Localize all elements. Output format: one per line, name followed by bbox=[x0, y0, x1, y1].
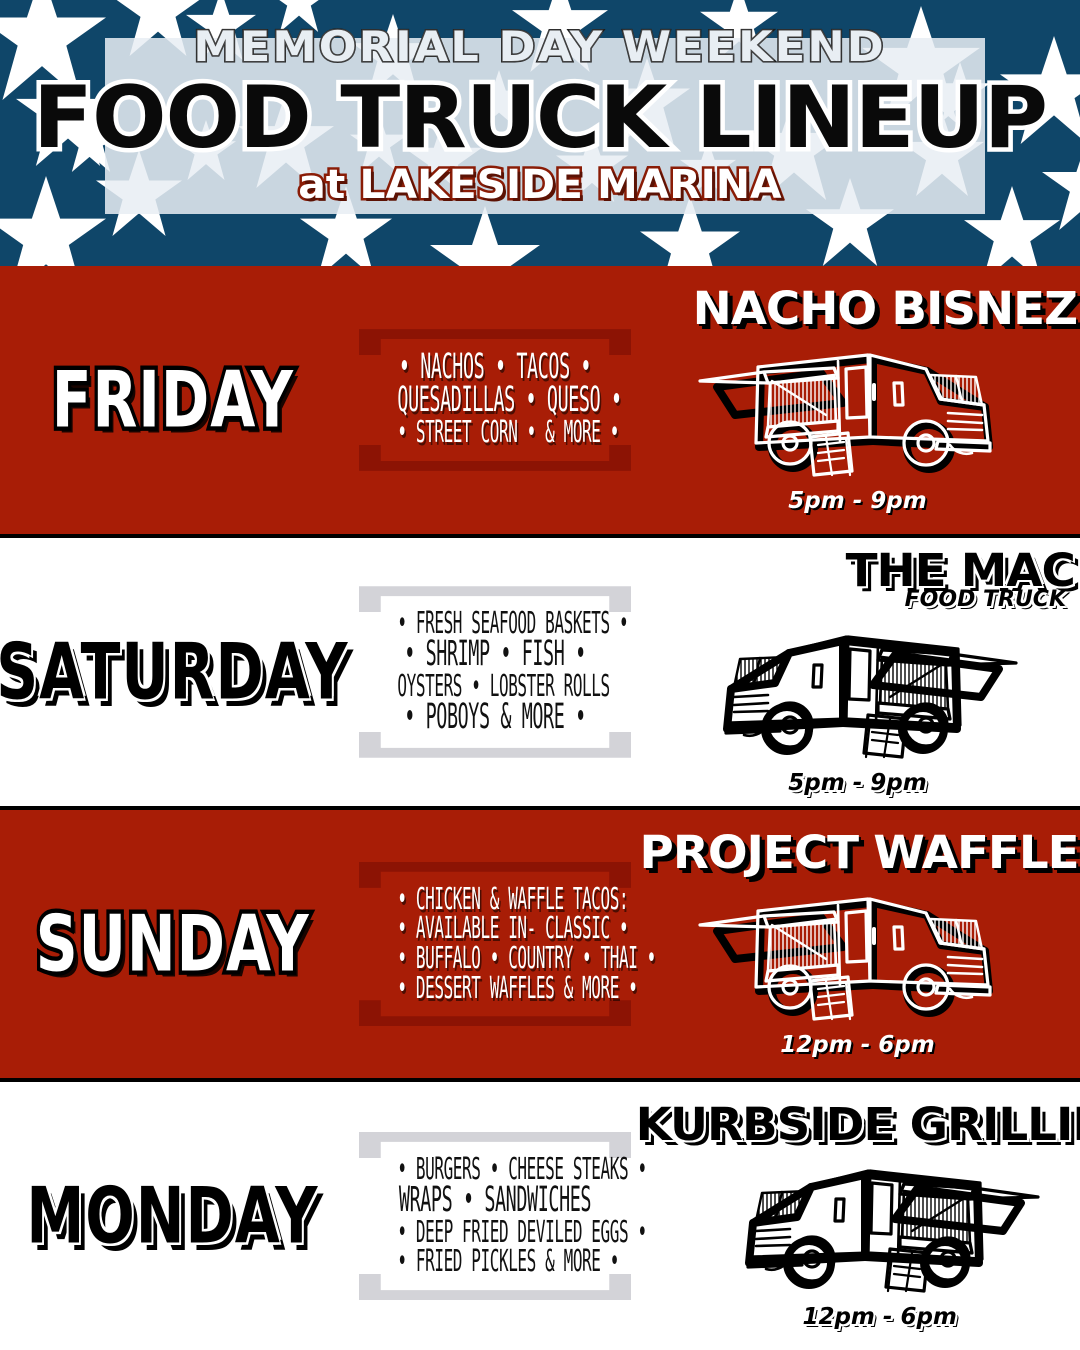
menu-list: • CHICKEN & WAFFLE TACOS:• AVAILABLE IN-… bbox=[373, 888, 617, 1000]
day-row-sunday[interactable]: SUNDAY • CHICKEN & WAFFLE TACOS:• AVAILA… bbox=[0, 810, 1080, 1078]
vendor-title: NACHO BISNEZ bbox=[693, 286, 1077, 331]
menu-cell: • NACHOS • TACOS •QUESADILLAS • QUESO ••… bbox=[345, 329, 645, 471]
day-name-cell: SATURDAY bbox=[0, 641, 345, 703]
vendor-cell[interactable]: NACHO BISNEZ bbox=[645, 266, 1080, 534]
menu-item: • STREET CORN • & MORE • bbox=[397, 415, 592, 450]
day-label: MONDAY bbox=[26, 1177, 318, 1255]
menu-frame: • CHICKEN & WAFFLE TACOS:• AVAILABLE IN-… bbox=[359, 862, 631, 1026]
menu-frame: • FRESH SEAFOOD BASKETS •• SHRIMP • FISH… bbox=[359, 586, 631, 757]
header-text-block: MEMORIAL DAY WEEKEND FOOD TRUCK LINEUP a… bbox=[0, 0, 1080, 266]
service-hours: 5pm - 9pm bbox=[788, 770, 926, 796]
menu-item: • DESSERT WAFFLES & MORE • bbox=[397, 971, 592, 1006]
day-label: SUNDAY bbox=[36, 905, 310, 983]
service-hours: 12pm - 6pm bbox=[802, 1304, 956, 1330]
day-row-monday[interactable]: MONDAY • BURGERS • CHEESE STEAKS •WRAPS … bbox=[0, 1082, 1080, 1350]
food-truck-illustration bbox=[698, 607, 1018, 772]
menu-list: • FRESH SEAFOOD BASKETS •• SHRIMP • FISH… bbox=[373, 612, 617, 731]
vendor-cell[interactable]: KURBSIDE GRILLIN' bbox=[645, 1082, 1080, 1350]
service-hours: 5pm - 9pm bbox=[788, 488, 926, 514]
menu-cell: • FRESH SEAFOOD BASKETS •• SHRIMP • FISH… bbox=[345, 586, 645, 757]
menu-list: • BURGERS • CHEESE STEAKS •WRAPS • SANDW… bbox=[373, 1158, 617, 1274]
day-name-cell: MONDAY bbox=[0, 1185, 345, 1247]
day-label: SATURDAY bbox=[0, 633, 349, 711]
menu-cell: • CHICKEN & WAFFLE TACOS:• AVAILABLE IN-… bbox=[345, 862, 645, 1026]
header-banner: MEMORIAL DAY WEEKEND FOOD TRUCK LINEUP a… bbox=[0, 0, 1080, 266]
day-row-friday[interactable]: FRIDAY • NACHOS • TACOS •QUESADILLAS • Q… bbox=[0, 266, 1080, 534]
day-row-saturday[interactable]: SATURDAY • FRESH SEAFOOD BASKETS •• SHRI… bbox=[0, 538, 1080, 806]
vendor-cell[interactable]: THE MAC FOOD TRUCK bbox=[645, 538, 1080, 806]
menu-cell: • BURGERS • CHEESE STEAKS •WRAPS • SANDW… bbox=[345, 1132, 645, 1300]
header-kicker: MEMORIAL DAY WEEKEND bbox=[194, 26, 886, 68]
day-label: FRIDAY bbox=[51, 361, 293, 439]
vendor-title: THE MAC bbox=[845, 548, 1074, 593]
menu-item: • FRIED PICKLES & MORE • bbox=[397, 1244, 592, 1279]
menu-frame: • NACHOS • TACOS •QUESADILLAS • QUESO ••… bbox=[359, 329, 631, 471]
menu-frame: • BURGERS • CHEESE STEAKS •WRAPS • SANDW… bbox=[359, 1132, 631, 1300]
menu-item: • POBOYS & MORE • bbox=[397, 698, 592, 739]
page-title: FOOD TRUCK LINEUP bbox=[33, 76, 1047, 160]
menu-list: • NACHOS • TACOS •QUESADILLAS • QUESO ••… bbox=[373, 355, 617, 445]
food-truck-illustration bbox=[698, 325, 1018, 490]
header-subtitle: at LAKESIDE MARINA bbox=[298, 162, 781, 208]
vendor-cell[interactable]: PROJECT WAFFLE bbox=[645, 810, 1080, 1078]
day-name-cell: FRIDAY bbox=[0, 369, 345, 431]
flyer-canvas: MEMORIAL DAY WEEKEND FOOD TRUCK LINEUP a… bbox=[0, 0, 1080, 1350]
food-truck-illustration bbox=[698, 869, 1018, 1034]
day-name-cell: SUNDAY bbox=[0, 913, 345, 975]
service-hours: 12pm - 6pm bbox=[780, 1032, 934, 1058]
food-truck-illustration bbox=[720, 1141, 1040, 1306]
vendor-title: PROJECT WAFFLE bbox=[639, 830, 1078, 875]
